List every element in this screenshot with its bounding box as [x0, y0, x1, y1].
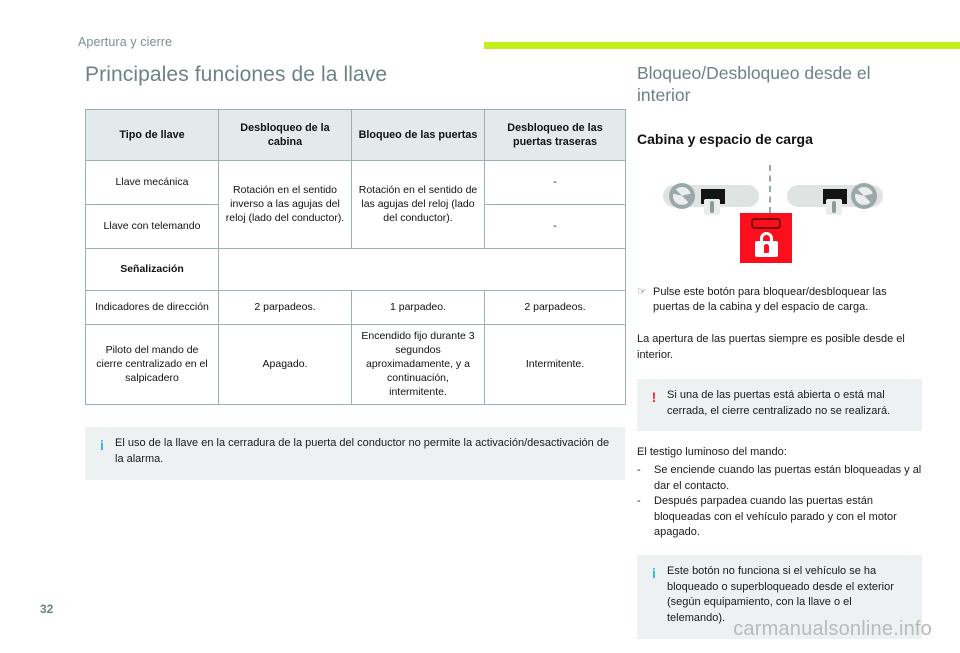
sub-section-title: Cabina y espacio de carga — [637, 131, 922, 147]
row-label: Indicadores de dirección — [86, 291, 219, 325]
warning-exclamation-icon: ! — [647, 388, 661, 407]
breadcrumb: Apertura y cierre — [78, 36, 172, 49]
cell-signalling-empty — [219, 249, 626, 291]
telltale-intro: El testigo luminoso del mando: — [637, 445, 922, 461]
instruction-text: Pulse este botón para bloquear/desbloque… — [653, 285, 922, 316]
gear-lever-icon — [704, 199, 720, 215]
dash-marker: - — [637, 494, 654, 541]
cell-indicators-lock: 1 parpadeo. — [352, 291, 485, 325]
table-row: Piloto del mando de cierre centralizado … — [86, 325, 626, 405]
lock-closed-icon — [755, 232, 778, 257]
cell-indicators-rear: 2 parpadeos. — [485, 291, 626, 325]
list-item: - Se enciende cuando las puertas están b… — [637, 463, 922, 494]
list-item-text: Se enciende cuando las puertas están blo… — [654, 463, 922, 494]
warning-note-text: Si una de las puertas está abierta o est… — [661, 388, 910, 419]
list-item-text: Después parpadea cuando las puertas está… — [654, 494, 922, 541]
cell-telltale-lock: Encendido fijo durante 3 segundos aproxi… — [352, 325, 485, 405]
page-number: 32 — [40, 602, 53, 616]
cabin-lock-illustration — [637, 165, 922, 277]
page-title: Principales funciones de la llave — [85, 62, 625, 87]
info-note-alarm: i El uso de la llave en la cerradura de … — [85, 427, 625, 479]
row-label: Llave con telemando — [86, 205, 219, 249]
dash-marker: - — [637, 463, 654, 494]
cell-rear-unlock-remote: - — [485, 205, 626, 249]
list-item: - Después parpadea cuando las puertas es… — [637, 494, 922, 541]
steering-wheel-icon — [669, 183, 695, 209]
column-header-rear-door-unlock: Desbloqueo de las puertas traseras — [485, 110, 626, 161]
illustration-divider — [769, 165, 771, 213]
cell-door-lock-mechanical: Rotación en el sentido de las agujas del… — [352, 161, 485, 249]
cell-telltale-rear: Intermitente. — [485, 325, 626, 405]
table-header-row: Tipo de llave Desbloqueo de la cabina Bl… — [86, 110, 626, 161]
button-bar-icon — [751, 218, 781, 229]
dashboard-left-hand-drive — [663, 183, 759, 209]
warning-note-door-open: ! Si una de las puertas está abierta o e… — [637, 379, 922, 431]
key-functions-table: Tipo de llave Desbloqueo de la cabina Bl… — [85, 109, 626, 405]
right-column: Bloqueo/Desbloqueo desde el interior Cab… — [637, 62, 922, 653]
cell-telltale-cabin: Apagado. — [219, 325, 352, 405]
paragraph-door-opening: La apertura de las puertas siempre es po… — [637, 332, 922, 363]
row-label: Llave mecánica — [86, 161, 219, 205]
telltale-list: - Se enciende cuando las puertas están b… — [637, 463, 922, 541]
row-label-signalling: Señalización — [86, 249, 219, 291]
info-note-text: El uso de la llave en la cerradura de la… — [109, 436, 613, 467]
column-header-key-type: Tipo de llave — [86, 110, 219, 161]
cell-indicators-cabin: 2 parpadeos. — [219, 291, 352, 325]
table-row: Señalización — [86, 249, 626, 291]
dashboard-right-hand-drive — [787, 183, 883, 209]
table-row: Llave mecánica Rotación en el sentido in… — [86, 161, 626, 205]
header-accent-rule — [484, 42, 960, 49]
instruction-bullet: ☞ Pulse este botón para bloquear/desbloq… — [637, 285, 922, 316]
watermark: carmanualsonline.info — [733, 618, 932, 641]
cell-rear-unlock-mechanical: - — [485, 161, 626, 205]
page-header: Apertura y cierre — [0, 0, 960, 56]
central-locking-button[interactable] — [740, 213, 792, 263]
column-header-door-lock: Bloqueo de las puertas — [352, 110, 485, 161]
table-row: Indicadores de dirección 2 parpadeos. 1 … — [86, 291, 626, 325]
gear-lever-icon — [826, 199, 842, 215]
info-icon: i — [95, 436, 109, 455]
cell-cabin-unlock-mechanical: Rotación en el sentido inverso a las agu… — [219, 161, 352, 249]
row-label: Piloto del mando de cierre centralizado … — [86, 325, 219, 405]
steering-wheel-icon — [851, 183, 877, 209]
pointing-hand-icon: ☞ — [637, 285, 653, 301]
left-column: Principales funciones de la llave Tipo d… — [85, 62, 625, 480]
column-header-cabin-unlock: Desbloqueo de la cabina — [219, 110, 352, 161]
info-icon: i — [647, 564, 661, 583]
section-title: Bloqueo/Desbloqueo desde el interior — [637, 62, 922, 107]
